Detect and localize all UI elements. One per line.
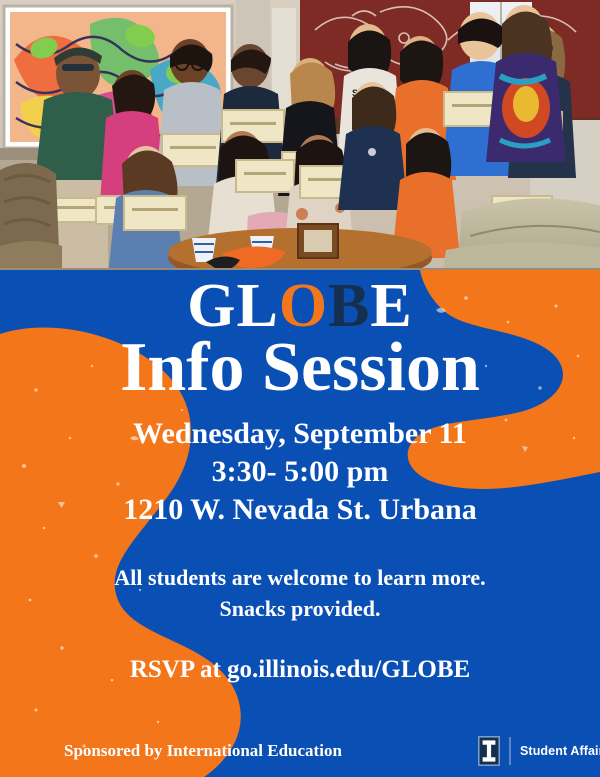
- block-i-icon: [478, 736, 500, 766]
- event-time: 3:30- 5:00 pm: [0, 453, 600, 491]
- illinois-student-affairs-logo: Student Affairs: [478, 733, 600, 769]
- poster: SNL ERSANS: [0, 0, 600, 777]
- logo-divider: [509, 737, 511, 765]
- sponsor-text: Sponsored by International Education: [64, 741, 342, 761]
- event-date: Wednesday, September 11: [0, 415, 600, 453]
- unit-name: Student Affairs: [520, 744, 600, 758]
- event-location: 1210 W. Nevada St. Urbana: [0, 491, 600, 529]
- body-line-2: Snacks provided.: [0, 594, 600, 624]
- group-photo: SNL ERSANS: [0, 0, 600, 276]
- rsvp-line: RSVP at go.illinois.edu/GLOBE: [0, 656, 600, 684]
- poster-text: GLOBE Info Session Wednesday, September …: [0, 270, 600, 777]
- page-title: GLOBE: [0, 275, 600, 337]
- poster-footer: Sponsored by International Education Stu…: [0, 733, 600, 777]
- page-subtitle: Info Session: [0, 333, 600, 403]
- body-line-1: All students are welcome to learn more.: [0, 563, 600, 593]
